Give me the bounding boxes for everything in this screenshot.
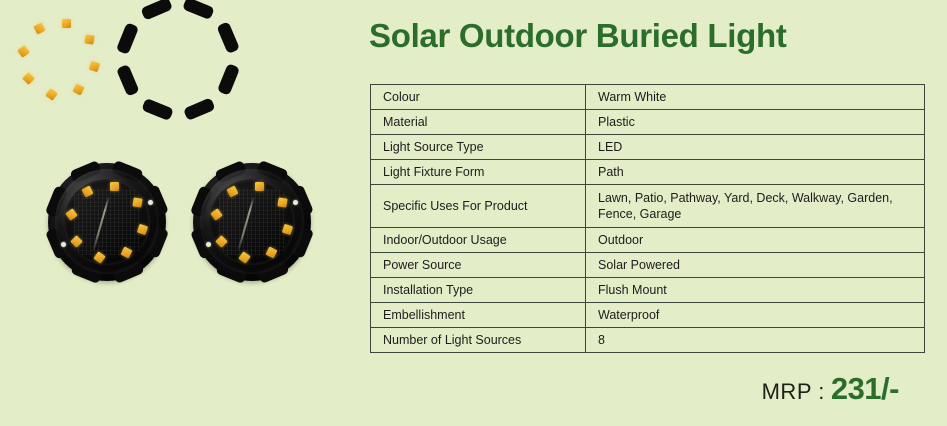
spec-value: Plastic [586,110,925,135]
spec-value: Flush Mount [586,278,925,303]
spec-key: Power Source [371,253,586,278]
page-title: Solar Outdoor Buried Light [369,17,787,55]
table-row: Power Source Solar Powered [371,253,925,278]
screw-icon [148,200,153,205]
specification-table-body: Colour Warm White Material Plastic Light… [371,85,925,353]
table-row: Number of Light Sources 8 [371,328,925,353]
spec-key: Installation Type [371,278,586,303]
price-label: MRP : [762,379,825,405]
spec-value: Solar Powered [586,253,925,278]
led-icon [46,88,59,101]
spec-key: Colour [371,85,586,110]
table-row: Light Source Type LED [371,135,925,160]
product-image-panel [0,0,355,426]
product-image-right [193,163,311,281]
solar-panel-icon [74,189,140,255]
spec-value: Lawn, Patio, Pathway, Yard, Deck, Walkwa… [586,185,925,228]
led-icon [23,73,36,86]
rim-notch [140,0,173,21]
led-icon [73,83,85,95]
led-icon [84,34,94,44]
rim-notch [216,63,239,96]
screw-icon [61,242,66,247]
price-value: 231/- [831,371,899,407]
led-icon [17,46,30,59]
rim-notch [216,21,240,54]
rim-notch [182,97,215,121]
spec-key: Indoor/Outdoor Usage [371,228,586,253]
spec-key: Light Source Type [371,135,586,160]
spec-key: Specific Uses For Product [371,185,586,228]
specification-table: Colour Warm White Material Plastic Light… [370,84,925,353]
rim-notch [182,0,215,20]
solar-panel-icon [219,189,285,255]
panel-highlight [237,196,255,252]
rim-notch [115,64,139,97]
table-row: Light Fixture Form Path [371,160,925,185]
table-row: Material Plastic [371,110,925,135]
screw-icon [206,242,211,247]
led-icon [62,19,71,28]
product-info-card: Solar Outdoor Buried Light Colour Warm W… [0,0,947,426]
spec-value: Warm White [586,85,925,110]
spec-value: Waterproof [586,303,925,328]
spec-value: LED [586,135,925,160]
spec-key: Number of Light Sources [371,328,586,353]
led-icon [110,182,119,191]
table-row: Colour Warm White [371,85,925,110]
spec-value: Path [586,160,925,185]
spec-value: 8 [586,328,925,353]
product-details-panel: Solar Outdoor Buried Light Colour Warm W… [355,0,947,426]
table-row: Indoor/Outdoor Usage Outdoor [371,228,925,253]
table-row: Installation Type Flush Mount [371,278,925,303]
rim-notch [141,98,174,121]
panel-highlight [92,196,110,252]
spec-value: Outdoor [586,228,925,253]
price-block: MRP : 231/- [762,371,899,407]
led-icon [33,23,45,35]
rim-notch [115,22,138,55]
spec-key: Light Fixture Form [371,160,586,185]
led-icon [255,182,264,191]
led-icon [132,197,142,207]
product-image-left [48,163,166,281]
spec-key: Material [371,110,586,135]
led-icon [89,60,100,71]
screw-icon [293,200,298,205]
led-icon [277,197,287,207]
spec-key: Embellishment [371,303,586,328]
table-row: Embellishment Waterproof [371,303,925,328]
table-row: Specific Uses For Product Lawn, Patio, P… [371,185,925,228]
